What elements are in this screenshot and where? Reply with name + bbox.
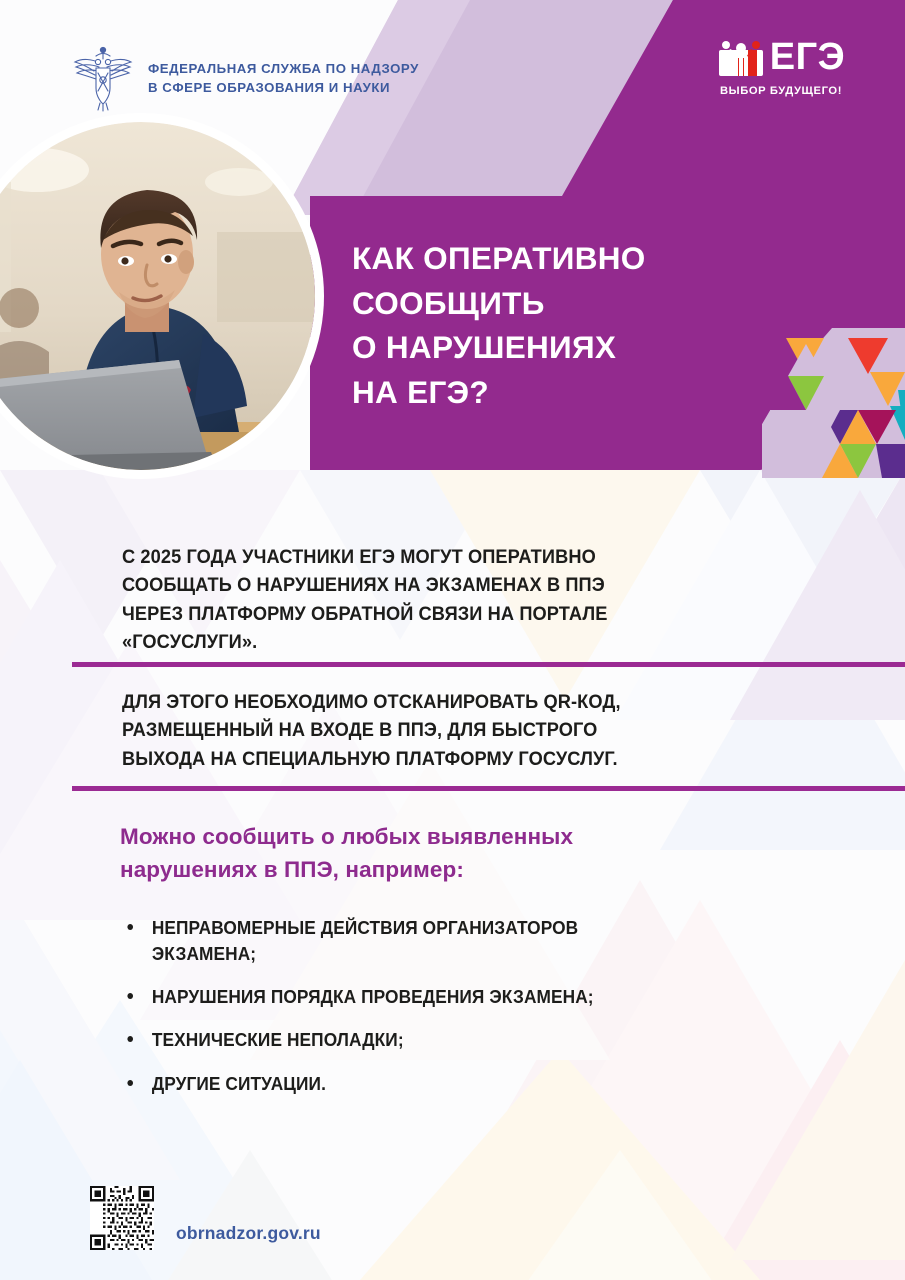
double-headed-eagle-emblem-icon bbox=[72, 46, 134, 112]
divider-rule-1 bbox=[72, 662, 905, 667]
list-item: ДРУГИЕ СИТУАЦИИ. bbox=[118, 1071, 814, 1097]
violations-list: НЕПРАВОМЕРНЫЕ ДЕЙСТВИЯ ОРГАНИЗАТОРОВ ЭКЗ… bbox=[118, 915, 858, 1114]
ege-tagline: ВЫБОР БУДУЩЕГО! bbox=[706, 85, 856, 97]
body-paragraph-1: С 2025 ГОДА УЧАСТНИКИ ЕГЭ МОГУТ ОПЕРАТИВ… bbox=[122, 543, 773, 657]
page-title: КАК ОПЕРАТИВНО СООБЩИТЬ О НАРУШЕНИЯХ НА … bbox=[352, 236, 782, 415]
website-url[interactable]: obrnadzor.gov.ru bbox=[176, 1223, 321, 1244]
qr-code-icon[interactable] bbox=[90, 1186, 154, 1250]
poster-root: ФЕДЕРАЛЬНАЯ СЛУЖБА ПО НАДЗОРУ В СФЕРЕ ОБ… bbox=[0, 0, 905, 1280]
body-paragraph-2: ДЛЯ ЭТОГО НЕОБХОДИМО ОТСКАНИРОВАТЬ QR-КО… bbox=[122, 688, 773, 773]
ege-wordmark: ЕГЭ bbox=[770, 38, 845, 76]
ege-people-mark-icon bbox=[717, 36, 765, 78]
ege-logo: ЕГЭ ВЫБОР БУДУЩЕГО! bbox=[706, 36, 856, 97]
list-item: НЕПРАВОМЕРНЫЕ ДЕЙСТВИЯ ОРГАНИЗАТОРОВ ЭКЗ… bbox=[118, 915, 814, 967]
footer: obrnadzor.gov.ru bbox=[90, 1186, 321, 1250]
section-subheading: Можно сообщить о любых выявленных наруше… bbox=[120, 820, 820, 887]
list-item: ТЕХНИЧЕСКИЕ НЕПОЛАДКИ; bbox=[118, 1027, 814, 1053]
agency-name: ФЕДЕРАЛЬНАЯ СЛУЖБА ПО НАДЗОРУ В СФЕРЕ ОБ… bbox=[148, 60, 419, 97]
divider-rule-2 bbox=[72, 786, 905, 791]
list-item: НАРУШЕНИЯ ПОРЯДКА ПРОВЕДЕНИЯ ЭКЗАМЕНА; bbox=[118, 984, 814, 1010]
agency-lockup: ФЕДЕРАЛЬНАЯ СЛУЖБА ПО НАДЗОРУ В СФЕРЕ ОБ… bbox=[72, 46, 419, 112]
triangle-mosaic-decoration bbox=[762, 328, 905, 478]
